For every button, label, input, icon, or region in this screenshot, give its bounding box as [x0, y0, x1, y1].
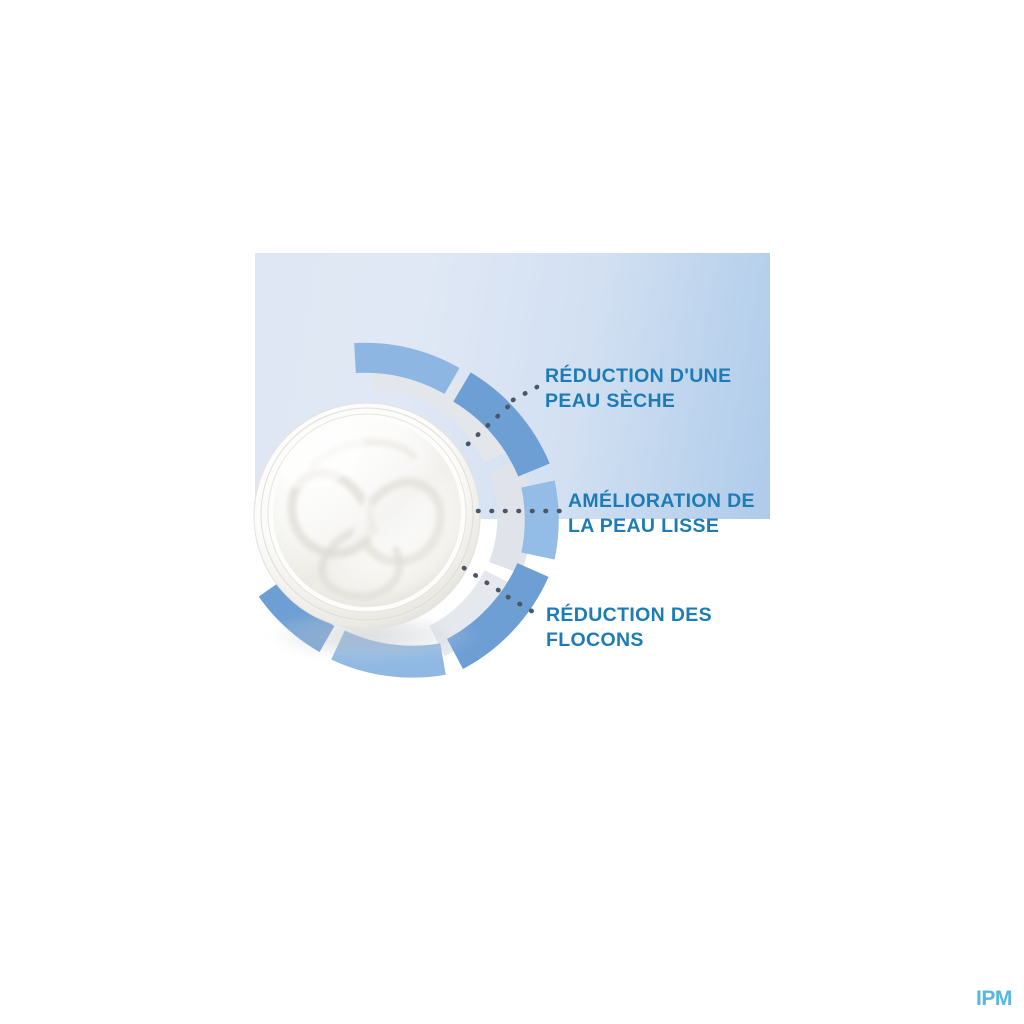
benefit-label-flakes-reduction: RÉDUCTION DES FLOCONS [546, 603, 712, 653]
ring-segment-right [538, 484, 542, 556]
benefit-ring-artwork [0, 0, 1024, 1024]
cream-jar [254, 403, 480, 662]
connector-line-1b [513, 387, 537, 400]
benefit-label-smooth-skin-improvement: AMÉLIORATION DE LA PEAU LISSE [568, 489, 755, 539]
inner-ring-segment-middle [505, 466, 514, 568]
infographic-stage: RÉDUCTION D'UNE PEAU SÈCHE AMÉLIORATION … [0, 0, 1024, 1024]
benefit-label-dry-skin-reduction: RÉDUCTION D'UNE PEAU SÈCHE [545, 364, 731, 414]
ipm-logo: IPM [976, 988, 1012, 1009]
